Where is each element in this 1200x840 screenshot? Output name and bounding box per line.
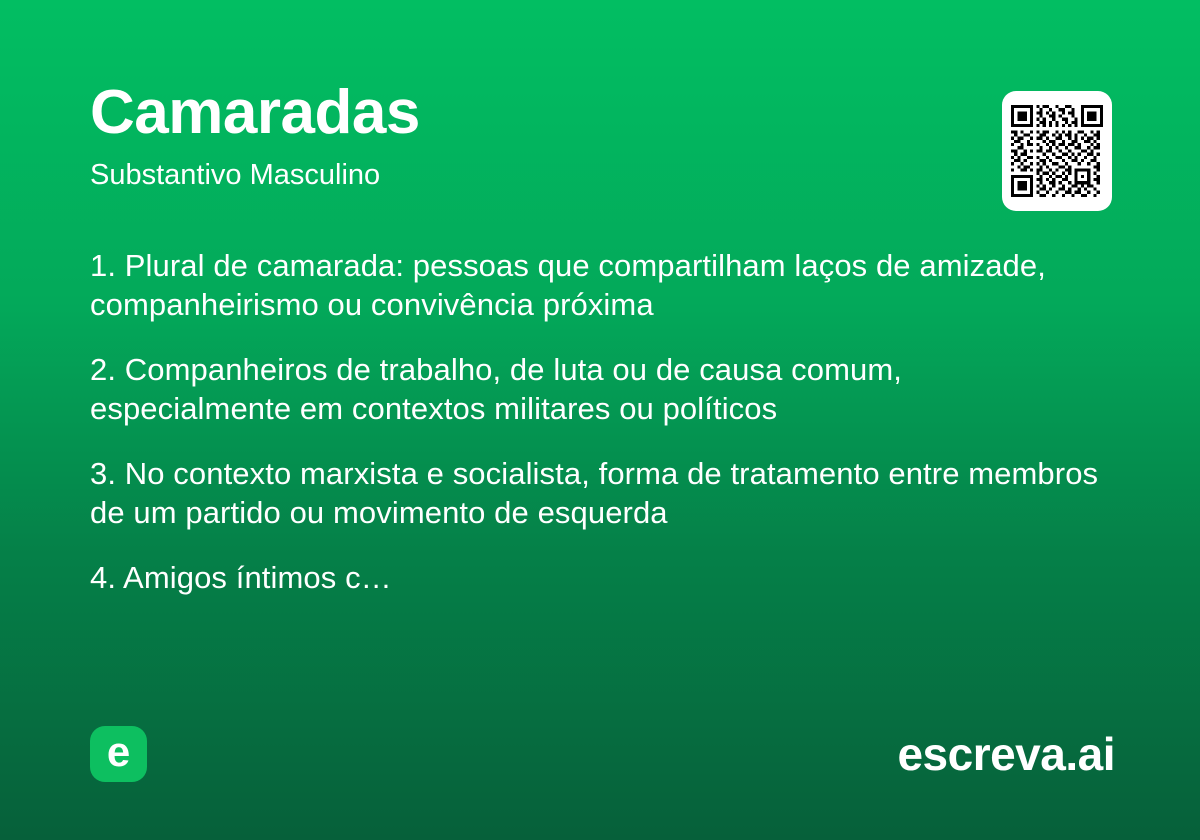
card-footer: e escreva.ai xyxy=(90,725,1115,783)
page-title: Camaradas xyxy=(90,82,1110,144)
word-class-label: Substantivo Masculino xyxy=(90,158,1110,193)
card-header: Camaradas Substantivo Masculino xyxy=(90,82,1110,193)
brand-wordmark[interactable]: escreva.ai xyxy=(897,731,1115,777)
definition-card: Camaradas Substantivo Masculino xyxy=(0,0,1200,840)
escreva-logo-icon[interactable]: e xyxy=(90,726,147,782)
definition-list: 1. Plural de camarada: pessoas que compa… xyxy=(90,246,1100,597)
definition-item: 1. Plural de camarada: pessoas que compa… xyxy=(90,246,1100,324)
definition-item: 2. Companheiros de trabalho, de luta ou … xyxy=(90,350,1100,428)
qr-code-icon[interactable] xyxy=(1002,91,1112,211)
definition-item: 4. Amigos íntimos c… xyxy=(90,558,1100,597)
definition-item: 3. No contexto marxista e socialista, fo… xyxy=(90,454,1100,532)
